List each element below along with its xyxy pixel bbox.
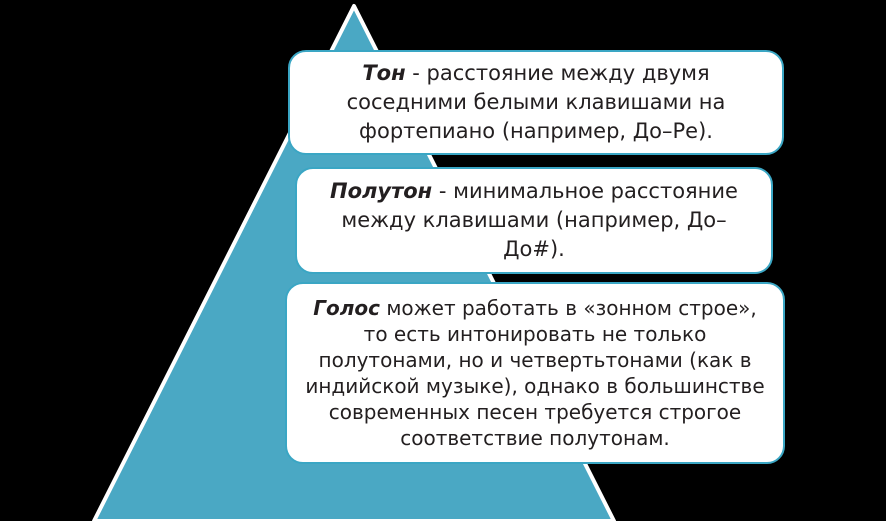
card-golos: Голос может работать в «зонном строе», т…: [285, 282, 785, 464]
card-golos-term: Голос: [313, 296, 380, 320]
card-polutone-term: Полутон: [330, 179, 432, 203]
card-ton: Тон - расстояние между двумя соседними б…: [288, 50, 784, 155]
card-polutone-text: Полутон - минимальное расстояние между к…: [297, 177, 771, 264]
card-polutone: Полутон - минимальное расстояние между к…: [295, 167, 773, 274]
card-ton-text: Тон - расстояние между двумя соседними б…: [290, 59, 782, 146]
diagram-canvas: Тон - расстояние между двумя соседними б…: [0, 0, 886, 521]
card-ton-term: Тон: [362, 61, 405, 85]
card-golos-text: Голос может работать в «зонном строе», т…: [287, 295, 783, 451]
